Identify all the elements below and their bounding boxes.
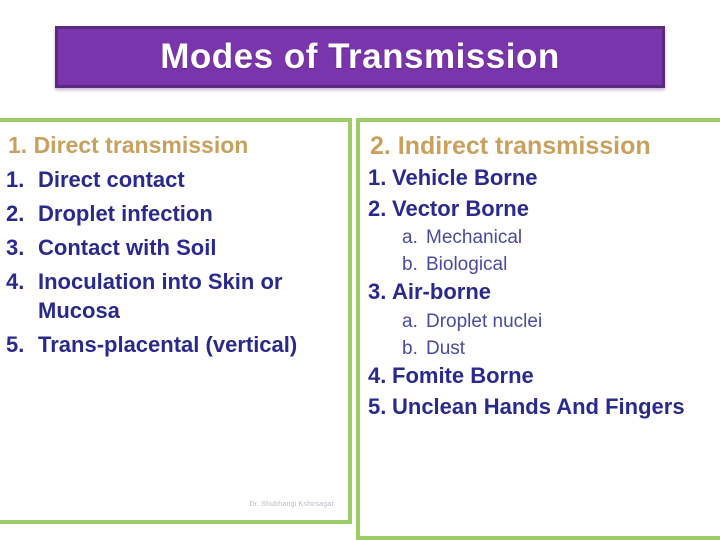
list-subitem-label: Biological [426,252,720,278]
list-subitem-marker: b. [402,252,426,278]
list-item-marker: 5. [368,393,392,422]
page-title: Modes of Transmission [160,37,559,77]
list-item: 2. Vector Borne [368,195,720,224]
list-item-label: Droplet infection [38,199,348,228]
list-item: 4. Inoculation into Skin or Mucosa [6,267,348,325]
indirect-transmission-list: 1. Vehicle Borne 2. Vector Borne a. Mech… [360,164,720,422]
direct-transmission-list: 1. Direct contact 2. Droplet infection 3… [0,165,348,359]
list-item: 1. Direct contact [6,165,348,194]
list-item-marker: 1. [6,165,38,194]
list-item-label: Contact with Soil [38,233,348,262]
list-subitem-label: Droplet nuclei [426,309,720,335]
author-attribution: Dr. Shubhangi Kshirsagar [249,501,334,508]
list-item: 1. Vehicle Borne [368,164,720,193]
list-item-marker: 1. [368,164,392,193]
list-subitem-marker: b. [402,336,426,362]
list-item-label: Direct contact [38,165,348,194]
list-item-label: Unclean Hands And Fingers [392,393,720,422]
list-item-marker: 3. [368,278,392,307]
list-item-label: Inoculation into Skin or Mucosa [38,267,348,325]
list-item-marker: 3. [6,233,38,262]
list-subitem: b. Dust [368,336,720,362]
panel-indirect-transmission: 2. Indirect transmission 1. Vehicle Born… [356,118,720,540]
list-item-label: Trans-placental (vertical) [38,330,348,359]
list-subitem-label: Mechanical [426,225,720,251]
slide-title-banner: Modes of Transmission [55,26,665,88]
list-subitem-label: Dust [426,336,720,362]
panel-direct-heading: 1. Direct transmission [0,122,348,159]
list-item: 3. Air-borne [368,278,720,307]
list-item-marker: 4. [6,267,38,325]
list-subitem: b. Biological [368,252,720,278]
list-item-marker: 5. [6,330,38,359]
list-item-label: Vector Borne [392,195,720,224]
list-item: 4. Fomite Borne [368,362,720,391]
list-item: 2. Droplet infection [6,199,348,228]
list-item: 5. Unclean Hands And Fingers [368,393,720,422]
list-subitem: a. Droplet nuclei [368,309,720,335]
list-item-label: Air-borne [392,278,720,307]
list-item-marker: 4. [368,362,392,391]
panel-indirect-heading: 2. Indirect transmission [360,122,720,161]
list-item-label: Fomite Borne [392,362,720,391]
list-item-label: Vehicle Borne [392,164,720,193]
list-item: 3. Contact with Soil [6,233,348,262]
list-subitem: a. Mechanical [368,225,720,251]
list-item-marker: 2. [368,195,392,224]
list-item: 5. Trans-placental (vertical) [6,330,348,359]
list-item-marker: 2. [6,199,38,228]
list-subitem-marker: a. [402,309,426,335]
list-subitem-marker: a. [402,225,426,251]
panel-direct-transmission: 1. Direct transmission 1. Direct contact… [0,118,352,524]
